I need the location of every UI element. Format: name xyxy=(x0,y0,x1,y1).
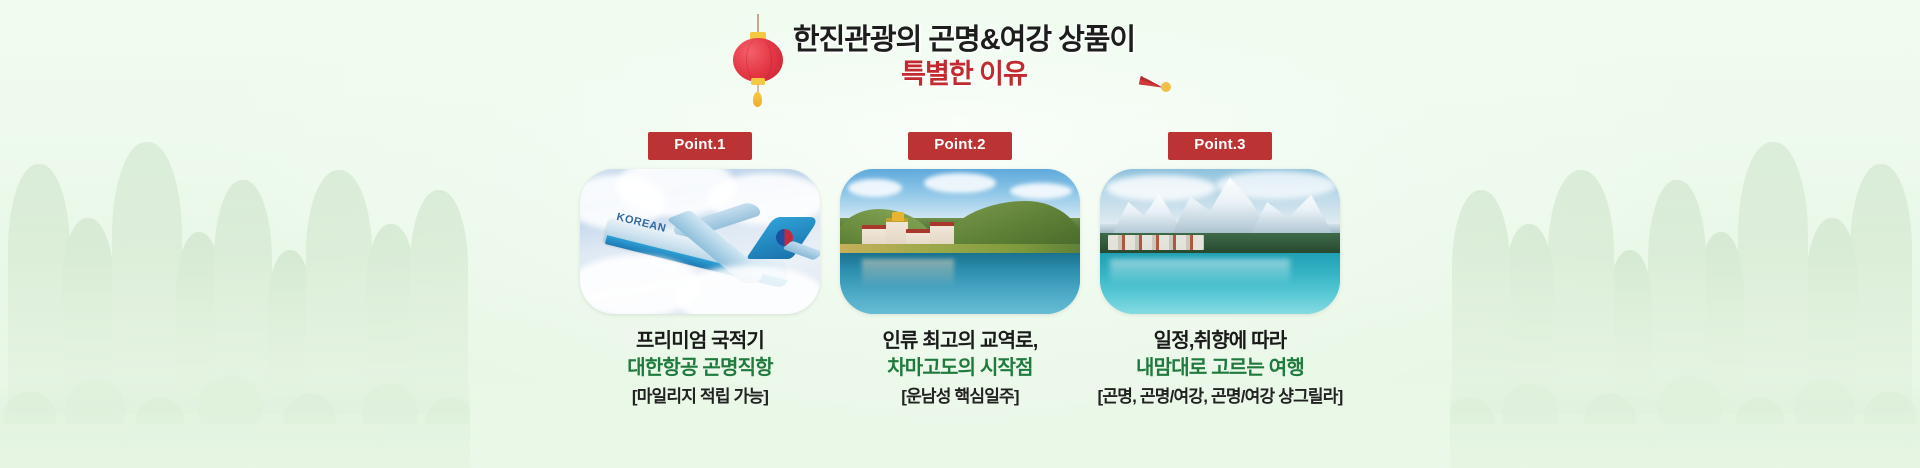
promo-banner: 한진관광의 곤명&여강 상품이 특별한 이유 Point.1 KOREAN xyxy=(0,0,1920,468)
caption-1-line-1: 프리미엄 국적기 xyxy=(627,328,773,354)
point-badge-1: Point.1 xyxy=(648,132,751,160)
point-card-1[interactable]: Point.1 KOREAN 프리미엄 국적기 대한항공 곤명 xyxy=(580,132,820,408)
banner-title-group: 한진관광의 곤명&여강 상품이 특별한 이유 xyxy=(793,24,1135,90)
point-caption-1: 프리미엄 국적기 대한항공 곤명직항 [마일리지 적립 가능] xyxy=(627,328,773,408)
point-badge-3: Point.3 xyxy=(1168,132,1271,160)
point-card-list: Point.1 KOREAN 프리미엄 국적기 대한항공 곤명 xyxy=(0,132,1920,408)
banner-title-line-1: 한진관광의 곤명&여강 상품이 xyxy=(793,24,1135,56)
chinese-fan-icon xyxy=(1141,40,1191,96)
jade-dragon-snow-mountain-photo[interactable] xyxy=(1100,169,1340,314)
caption-3-line-1: 일정,취향에 따라 xyxy=(1098,328,1343,354)
banner-title-line-2: 특별한 이유 xyxy=(901,58,1027,90)
korean-air-airplane-photo[interactable]: KOREAN xyxy=(580,169,820,314)
caption-2-line-1: 인류 최고의 교역로, xyxy=(882,328,1037,354)
caption-1-line-3: [마일리지 적립 가능] xyxy=(627,386,773,408)
chinese-lantern-icon xyxy=(729,14,787,100)
point-card-2[interactable]: Point.2 인류 최고의 교역로, 차마고도의 시작점 [운남성 핵심일주] xyxy=(840,132,1080,408)
point-card-3[interactable]: Point.3 일정,취향에 따라 내맘대로 고르는 여행 [곤명, 곤명/여강… xyxy=(1100,132,1340,408)
point-badge-2: Point.2 xyxy=(908,132,1011,160)
point-caption-3: 일정,취향에 따라 내맘대로 고르는 여행 [곤명, 곤명/여강, 곤명/여강 … xyxy=(1098,328,1343,408)
banner-header: 한진관광의 곤명&여강 상품이 특별한 이유 xyxy=(0,14,1920,98)
songzanlin-monastery-lake-photo[interactable] xyxy=(840,169,1080,314)
caption-1-line-2: 대한항공 곤명직항 xyxy=(627,355,773,381)
point-caption-2: 인류 최고의 교역로, 차마고도의 시작점 [운남성 핵심일주] xyxy=(882,328,1037,408)
lakeside-village xyxy=(1108,235,1204,250)
caption-3-line-2: 내맘대로 고르는 여행 xyxy=(1098,355,1343,381)
caption-2-line-3: [운남성 핵심일주] xyxy=(882,386,1037,408)
caption-3-line-3: [곤명, 곤명/여강, 곤명/여강 샹그릴라] xyxy=(1098,386,1343,408)
caption-2-line-2: 차마고도의 시작점 xyxy=(882,355,1037,381)
